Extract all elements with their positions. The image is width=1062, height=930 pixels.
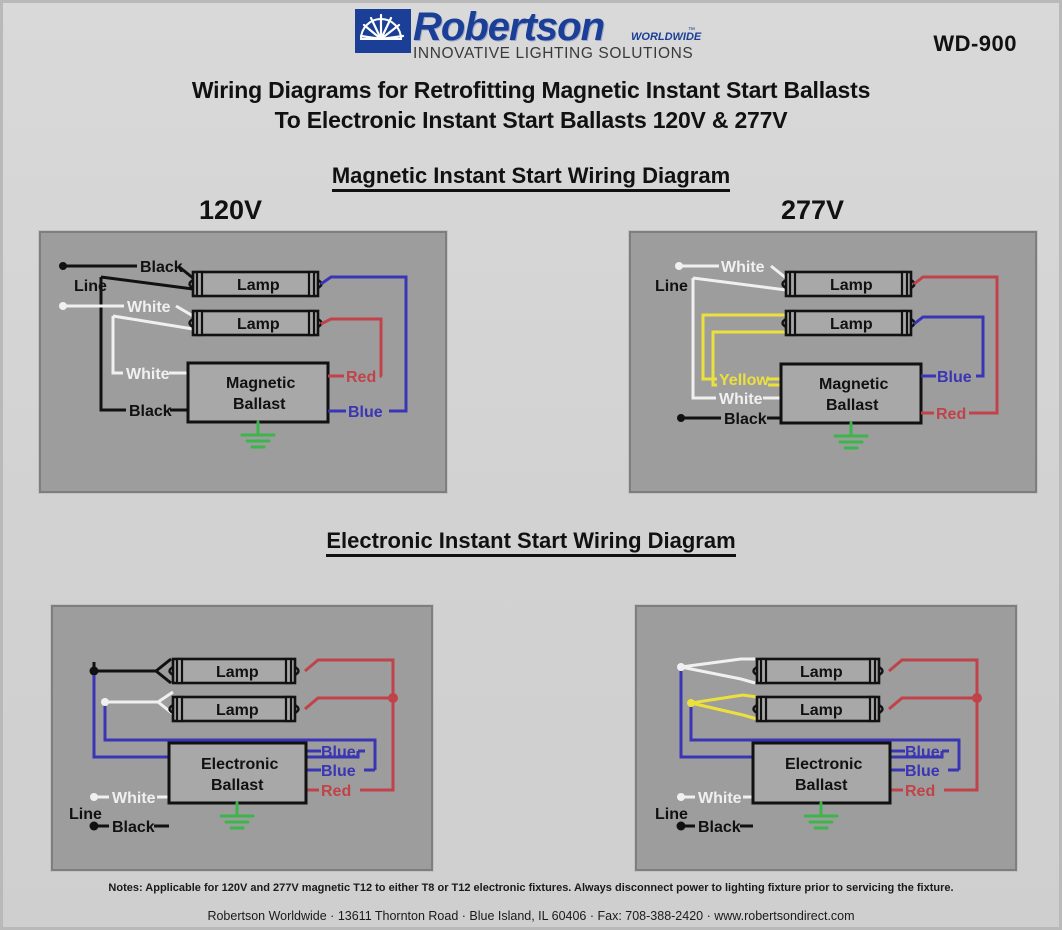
wire-label-white: White	[127, 299, 171, 316]
wire-label-blue: Blue	[348, 404, 383, 421]
logo-tagline: INNOVATIVE LIGHTING SOLUTIONS	[413, 45, 693, 63]
page-title-line1: Wiring Diagrams for Retrofitting Magneti…	[3, 77, 1059, 104]
wire-label-black: Black	[698, 819, 741, 836]
wire-label-blue: Blue	[321, 763, 356, 780]
lamp-label: Lamp	[216, 664, 259, 681]
document-page: Robertson WORLDWIDE ™ INNOVATIVE LIGHTIN…	[0, 0, 1062, 930]
label-line: Line	[69, 806, 102, 823]
logo-wordmark: Robertson	[413, 5, 604, 49]
lamp-label: Lamp	[830, 277, 873, 294]
lamp-label: Lamp	[237, 277, 280, 294]
wire-label-red: Red	[905, 783, 935, 800]
section-heading-magnetic-label: Magnetic Instant Start Wiring Diagram	[332, 163, 730, 192]
wire-label-white: White	[112, 790, 156, 807]
ballast-label: Ballast	[211, 777, 264, 794]
diagram-magnetic-277v: Line White Yellow White Black Blue Red L…	[629, 231, 1037, 493]
wire-label-black: Black	[112, 819, 155, 836]
wire-label-red: Red	[321, 783, 351, 800]
wire-label-black: Black	[724, 411, 767, 428]
wire-label-red: Red	[346, 369, 376, 386]
footer-address: Robertson Worldwide · 13611 Thornton Roa…	[3, 909, 1059, 923]
logo-trademark-icon: ™	[688, 27, 695, 34]
section-heading-magnetic: Magnetic Instant Start Wiring Diagram	[3, 163, 1059, 189]
ground-symbol-icon	[805, 803, 837, 828]
wire-label-blue: Blue	[905, 763, 940, 780]
wire-label-white: White	[721, 259, 765, 276]
wire-label-blue: Blue	[905, 744, 940, 761]
ground-symbol-icon	[835, 423, 867, 448]
ballast-label: Electronic	[785, 756, 862, 773]
diagram-magnetic-120v: Line Black White White Black Red Blue La…	[39, 231, 447, 493]
wire-label-black: Black	[129, 403, 172, 420]
wire-label-yellow: Yellow	[719, 372, 769, 389]
section-heading-electronic: Electronic Instant Start Wiring Diagram	[3, 528, 1059, 554]
wire-label-black: Black	[140, 259, 183, 276]
lamp-label: Lamp	[800, 664, 843, 681]
ground-symbol-icon	[221, 803, 253, 828]
diagram-electronic-277v: Line White Black Blue Blue Red Lamp Lamp…	[635, 605, 1017, 871]
wire-label-white: White	[126, 366, 170, 383]
label-line: Line	[655, 806, 688, 823]
ballast-label: Ballast	[233, 396, 286, 413]
ballast-label: Magnetic	[226, 375, 295, 392]
wire-label-red: Red	[936, 406, 966, 423]
label-line: Line	[655, 278, 688, 295]
lamp-label: Lamp	[800, 702, 843, 719]
wire-label-blue: Blue	[937, 369, 972, 386]
page-title-line2: To Electronic Instant Start Ballasts 120…	[3, 107, 1059, 134]
ballast-label: Ballast	[795, 777, 848, 794]
voltage-label-277v: 277V	[781, 195, 844, 226]
ballast-label: Magnetic	[819, 376, 888, 393]
wire-label-white: White	[698, 790, 742, 807]
sunburst-logo-icon	[355, 9, 411, 53]
section-heading-electronic-label: Electronic Instant Start Wiring Diagram	[326, 528, 735, 557]
page-header: Robertson WORLDWIDE ™ INNOVATIVE LIGHTIN…	[3, 7, 1059, 65]
ballast-label: Ballast	[826, 397, 879, 414]
label-line: Line	[74, 278, 107, 295]
wire-label-blue: Blue	[321, 744, 356, 761]
lamp-label: Lamp	[237, 316, 280, 333]
ground-symbol-icon	[242, 422, 274, 447]
diagram-electronic-120v: Line White Black Blue Blue Red Lamp Lamp…	[51, 605, 433, 871]
lamp-label: Lamp	[216, 702, 259, 719]
robertson-logo: Robertson WORLDWIDE ™ INNOVATIVE LIGHTIN…	[355, 9, 701, 61]
ballast-label: Electronic	[201, 756, 278, 773]
wire-label-white: White	[719, 391, 763, 408]
document-code: WD-900	[933, 31, 1017, 57]
lamp-label: Lamp	[830, 316, 873, 333]
voltage-label-120v: 120V	[199, 195, 262, 226]
footer-notes: Notes: Applicable for 120V and 277V magn…	[3, 882, 1059, 894]
